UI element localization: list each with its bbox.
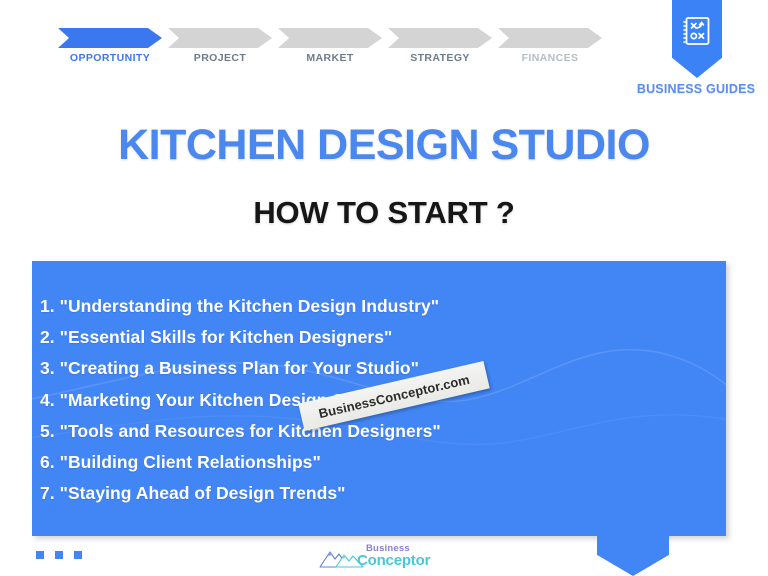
chevron-shape-icon xyxy=(388,28,492,48)
footer-dots xyxy=(36,551,82,559)
list-item: 1. "Understanding the Kitchen Design Ind… xyxy=(40,291,680,322)
breadcrumb-step-label: PROJECT xyxy=(168,52,272,64)
footer-logo-conceptor: Conceptor xyxy=(357,553,444,568)
breadcrumb: OPPORTUNITY PROJECT MARKET STRATEGY FINA… xyxy=(58,28,610,74)
breadcrumb-step-opportunity[interactable]: OPPORTUNITY xyxy=(58,28,166,72)
list-item: 3. "Creating a Business Plan for Your St… xyxy=(40,353,680,384)
page-subtitle: HOW TO START ? xyxy=(0,192,768,234)
breadcrumb-step-finances[interactable]: FINANCES xyxy=(498,28,606,72)
chevron-shape-icon xyxy=(58,28,162,48)
brand-name: BUSINESS GUIDES xyxy=(620,82,768,96)
list-item: 5. "Tools and Resources for Kitchen Desi… xyxy=(40,416,680,447)
page-title: KITCHEN DESIGN STUDIO xyxy=(0,119,768,171)
slide-root: OPPORTUNITY PROJECT MARKET STRATEGY FINA… xyxy=(0,0,768,576)
list-item: 7. "Staying Ahead of Design Trends" xyxy=(40,478,680,509)
list-item: 2. "Essential Skills for Kitchen Designe… xyxy=(40,322,680,353)
footer-logo[interactable]: Business Conceptor xyxy=(318,543,440,573)
chevron-shape-icon xyxy=(498,28,602,48)
breadcrumb-step-market[interactable]: MARKET xyxy=(278,28,386,72)
breadcrumb-step-label: FINANCES xyxy=(498,52,602,64)
chevron-shape-icon xyxy=(278,28,382,48)
footer-dot-icon xyxy=(55,551,63,559)
breadcrumb-step-label: STRATEGY xyxy=(388,52,492,64)
chevron-shape-icon xyxy=(168,28,272,48)
footer-dot-icon xyxy=(36,551,44,559)
breadcrumb-step-label: OPPORTUNITY xyxy=(58,52,162,64)
strategy-playbook-icon xyxy=(683,16,711,46)
footer-ribbon xyxy=(597,532,669,576)
footer-dot-icon xyxy=(74,551,82,559)
brand-ribbon xyxy=(672,0,722,78)
footer-logo-text: Business Conceptor xyxy=(366,544,444,572)
breadcrumb-step-strategy[interactable]: STRATEGY xyxy=(388,28,496,72)
breadcrumb-step-label: MARKET xyxy=(278,52,382,64)
breadcrumb-step-project[interactable]: PROJECT xyxy=(168,28,276,72)
list-item: 6. "Building Client Relationships" xyxy=(40,447,680,478)
